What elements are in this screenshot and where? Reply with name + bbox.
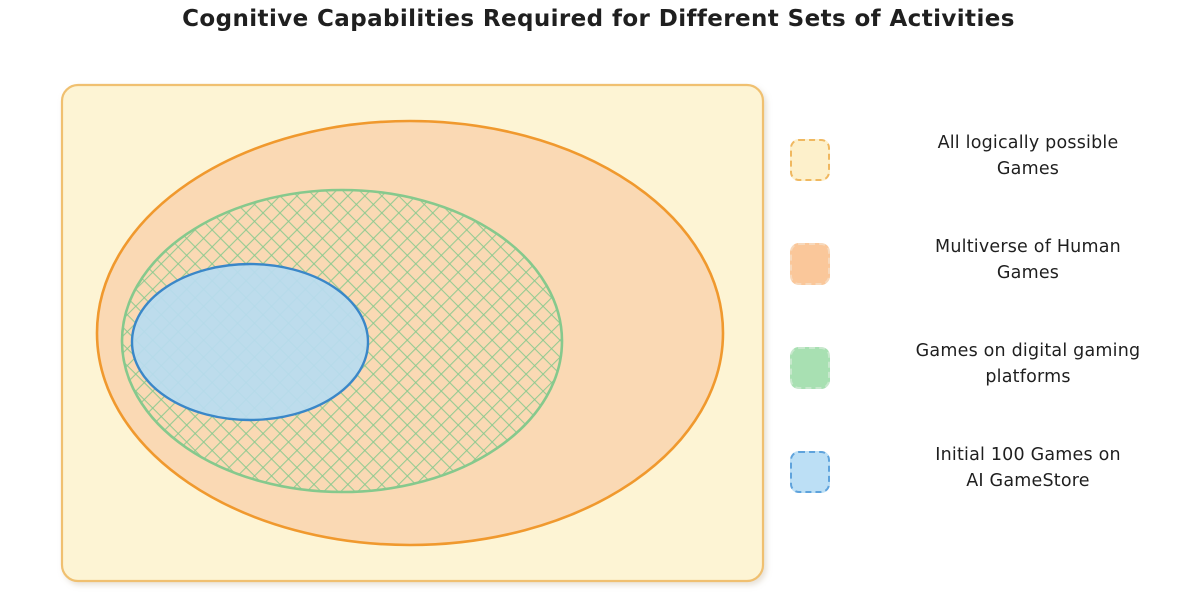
diagram-canvas: Cognitive Capabilities Required for Diff…: [0, 0, 1197, 606]
legend-item[interactable]: Games on digital gaming platforms: [790, 334, 1190, 438]
legend-swatch-multiverse-of-human-games: [790, 243, 830, 285]
set-initial-100-games-on-ai-gamestore: [132, 264, 368, 420]
legend: All logically possible Games Multiverse …: [790, 126, 1190, 542]
legend-item[interactable]: Initial 100 Games on AI GameStore: [790, 438, 1190, 542]
legend-swatch-all-logically-possible-games: [790, 139, 830, 181]
legend-swatch-games-on-digital-gaming-platforms: [790, 347, 830, 389]
legend-swatch-initial-100-games-on-ai-gamestore: [790, 451, 830, 493]
legend-item[interactable]: All logically possible Games: [790, 126, 1190, 230]
legend-label-games-on-digital-gaming-platforms: Games on digital gaming platforms: [866, 334, 1190, 390]
legend-item[interactable]: Multiverse of Human Games: [790, 230, 1190, 334]
legend-label-initial-100-games-on-ai-gamestore: Initial 100 Games on AI GameStore: [866, 438, 1190, 494]
legend-label-multiverse-of-human-games: Multiverse of Human Games: [866, 230, 1190, 286]
legend-label-all-logically-possible-games: All logically possible Games: [866, 126, 1190, 182]
